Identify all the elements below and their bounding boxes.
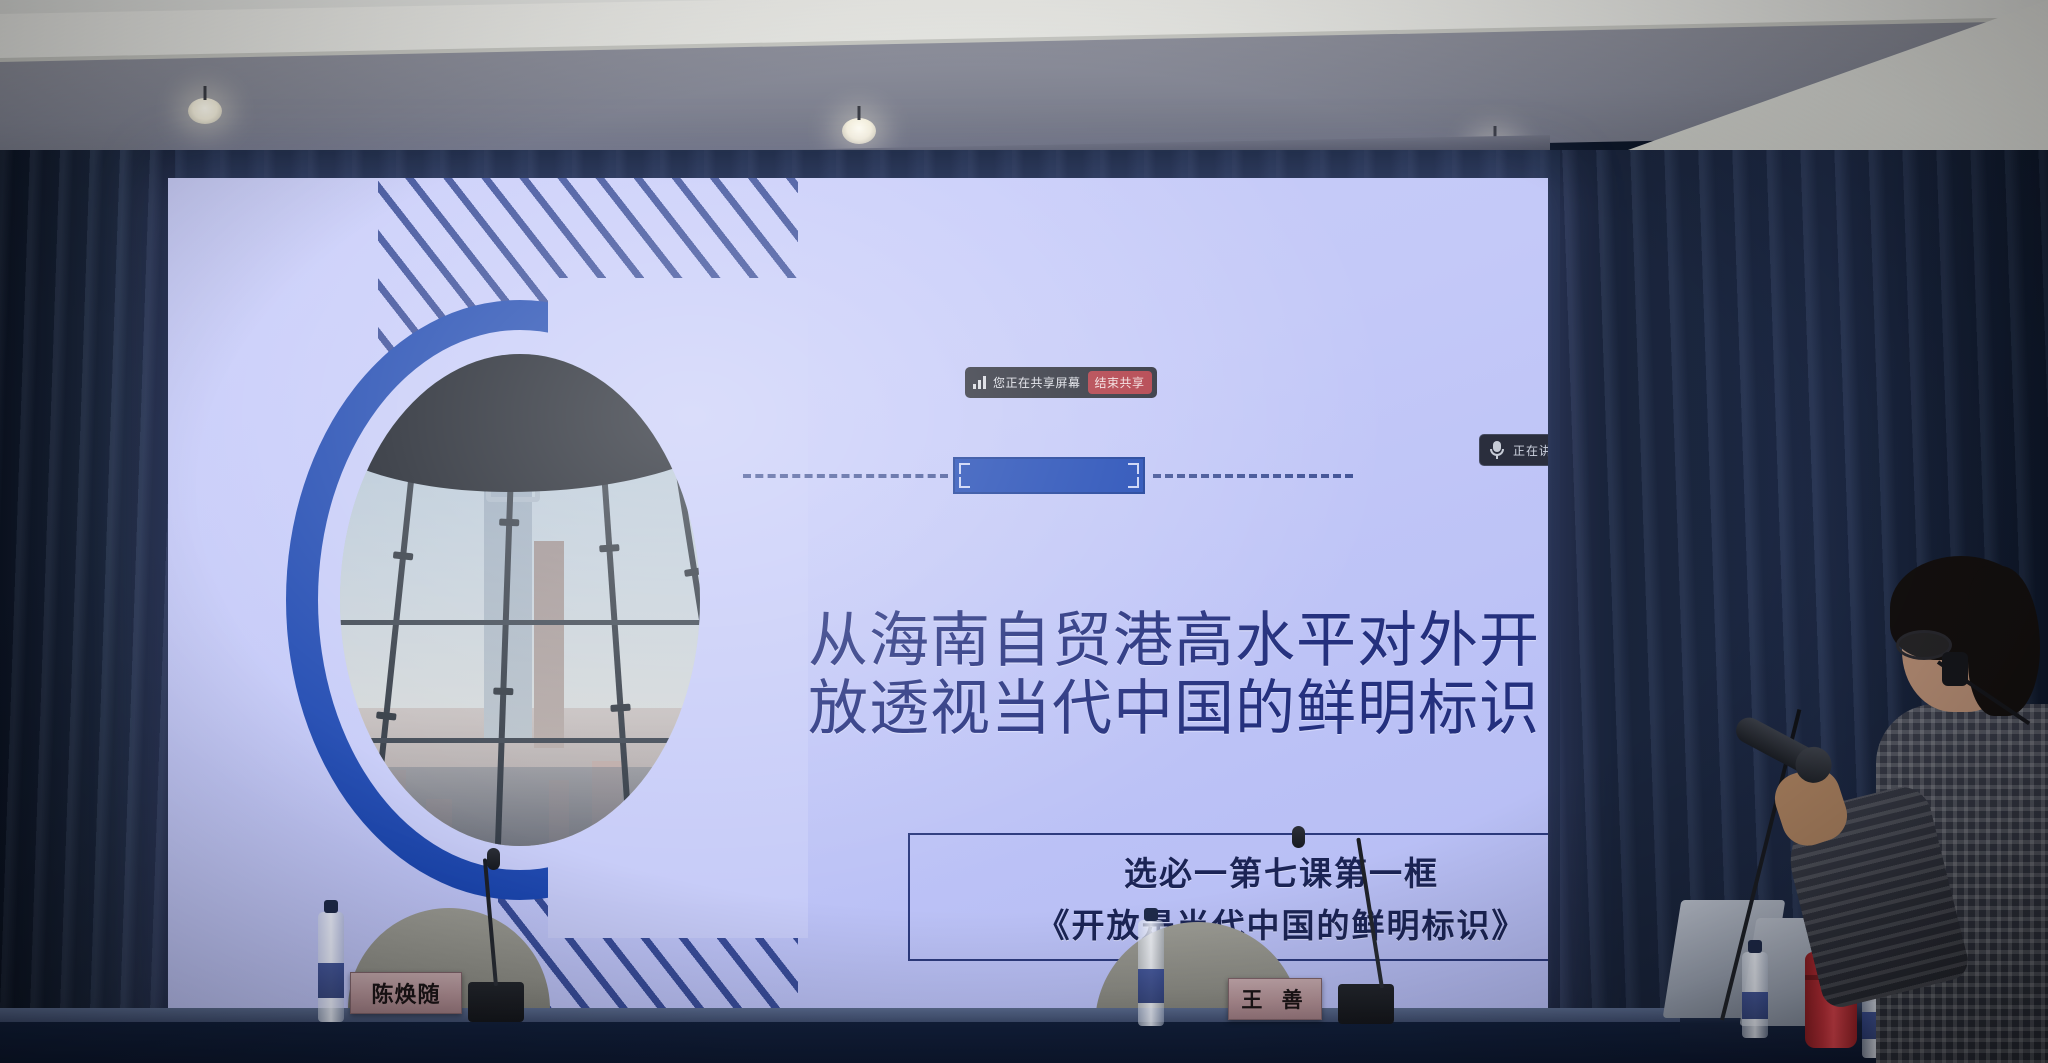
corner-bracket-icon	[959, 463, 970, 474]
photo-canopy	[340, 354, 700, 492]
desk-microphone-head	[1292, 826, 1305, 848]
photo-window-rail	[340, 620, 700, 625]
microphone-icon	[1490, 441, 1504, 459]
dashed-rule-left	[743, 474, 948, 478]
desk-microphone-base	[1338, 984, 1394, 1024]
corner-bracket-icon	[959, 477, 970, 488]
slide-photo-shanghai-skyline	[340, 354, 700, 846]
speaking-indicator: 正在讲话: 苏随之	[1479, 434, 1548, 466]
desk-microphone-base	[468, 982, 524, 1022]
water-bottle	[318, 912, 344, 1022]
signal-bars-icon	[973, 376, 986, 389]
light-stem	[204, 86, 207, 100]
photo-window-rail	[340, 738, 700, 743]
speaking-label: 正在讲话:	[1513, 442, 1548, 459]
slide-title-line-1: 从海南自贸港高水平对外开	[808, 608, 1528, 676]
water-bottle	[1742, 952, 1768, 1038]
nameplate: 陈焕随	[350, 972, 462, 1014]
ceiling-downlight	[842, 118, 876, 144]
head-table-skirt	[0, 1022, 1740, 1063]
blue-accent-box	[953, 457, 1145, 494]
dashed-rule-right	[1153, 474, 1353, 478]
corner-bracket-icon	[1128, 463, 1139, 474]
desk-microphone-head	[487, 848, 500, 870]
screen-share-bar[interactable]: 您正在共享屏幕 结束共享	[965, 367, 1157, 398]
light-stem	[858, 106, 861, 120]
slide-subtitle-line-2: 《开放是当代中国的鲜明标识》	[1037, 899, 1527, 947]
nameplate-text: 陈焕随	[371, 977, 440, 1009]
water-bottle	[1138, 920, 1164, 1026]
projection-screen: 从海南自贸港高水平对外开 放透视当代中国的鲜明标识 选必一第七课第一框 《开放是…	[168, 178, 1548, 1028]
presenter-hair-back	[1968, 566, 2040, 716]
stage-curtain-left	[0, 150, 175, 1063]
slide-subtitle-line-1: 选必一第七课第一框	[1124, 847, 1439, 895]
nameplate: 王 善	[1228, 978, 1322, 1020]
photo-glass-floor	[340, 767, 700, 846]
corner-bracket-icon	[1128, 477, 1139, 488]
nameplate-text: 王 善	[1241, 984, 1308, 1014]
photo-tower-secondary	[534, 541, 564, 748]
share-status-text: 您正在共享屏幕	[993, 374, 1081, 391]
slide-title: 从海南自贸港高水平对外开 放透视当代中国的鲜明标识	[808, 608, 1528, 744]
slide-title-line-2: 放透视当代中国的鲜明标识	[808, 676, 1528, 744]
presenter	[1830, 556, 2048, 1063]
stop-sharing-button[interactable]: 结束共享	[1088, 371, 1152, 394]
ceiling-downlight	[188, 98, 222, 124]
photo-scene: 从海南自贸港高水平对外开 放透视当代中国的鲜明标识 选必一第七课第一框 《开放是…	[0, 0, 2048, 1063]
